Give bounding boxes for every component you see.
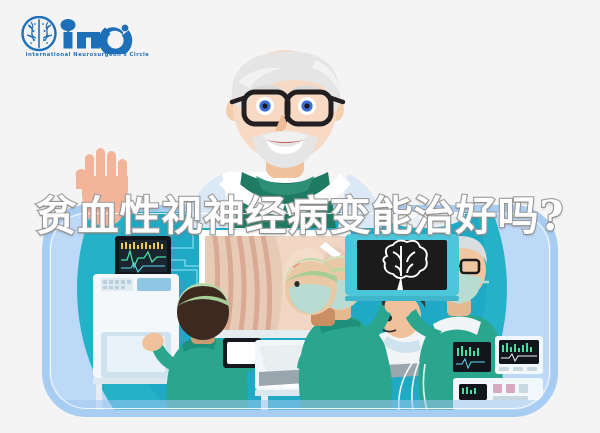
logo-letter-n xyxy=(77,32,100,49)
inc-logo: International Neurosurgeon's Circle xyxy=(20,16,155,66)
logo-letter-c xyxy=(98,23,133,54)
scene-artwork xyxy=(49,212,551,410)
control-console xyxy=(93,274,179,410)
brain-circuit-icon xyxy=(23,17,56,50)
vital-signs-monitor-1 xyxy=(115,236,171,280)
banner-canvas: International Neurosurgeon's Circle xyxy=(0,0,600,433)
logo-letter-i xyxy=(61,19,76,49)
brain-scan-display[interactable] xyxy=(345,234,459,301)
page-title-text: 贫血性视神经病变能治好吗? xyxy=(35,192,564,240)
logo-tagline: International Neurosurgeon's Circle xyxy=(20,52,155,58)
logo-mark xyxy=(20,16,155,54)
page-title: 贫血性视神经病变能治好吗? xyxy=(0,196,600,237)
operating-room-scene xyxy=(49,212,551,410)
